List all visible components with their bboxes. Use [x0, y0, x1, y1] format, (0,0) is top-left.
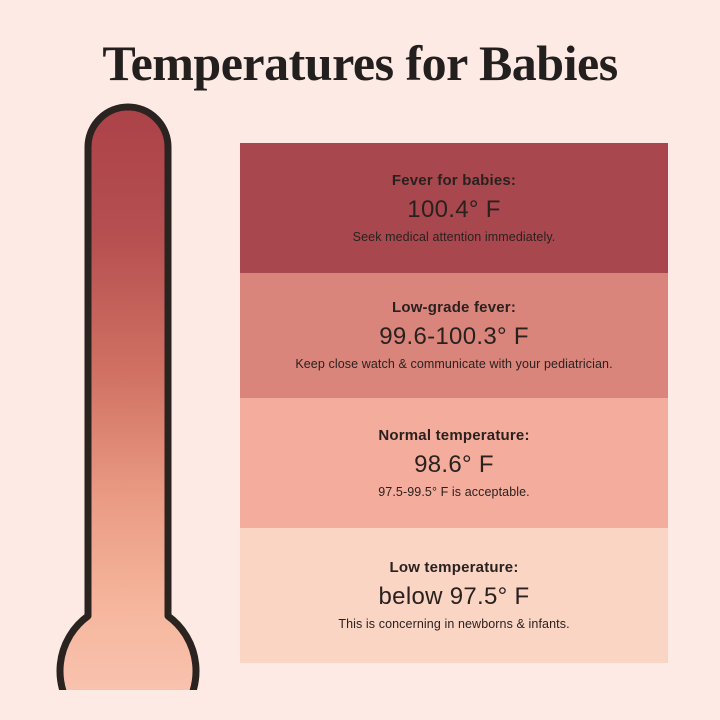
band-label: Low-grade fever:	[392, 298, 516, 317]
band-label: Fever for babies:	[392, 171, 516, 190]
temperature-band-low: Low temperature: below 97.5° F This is c…	[240, 528, 668, 663]
thermometer-svg	[42, 96, 222, 690]
page-title: Temperatures for Babies	[0, 34, 720, 92]
temperature-band-normal: Normal temperature: 98.6° F 97.5-99.5° F…	[240, 398, 668, 528]
thermometer-body	[60, 107, 196, 690]
band-value: 98.6° F	[414, 450, 494, 479]
band-value: 99.6-100.3° F	[379, 322, 529, 351]
band-value: below 97.5° F	[379, 582, 530, 611]
band-label: Normal temperature:	[378, 426, 529, 445]
infographic-canvas: Temperatures for Babies Fever for babies…	[0, 0, 720, 720]
band-label: Low temperature:	[389, 558, 518, 577]
band-note: Seek medical attention immediately.	[353, 229, 556, 246]
band-note: 97.5-99.5° F is acceptable.	[378, 484, 530, 501]
band-note: Keep close watch & communicate with your…	[295, 356, 612, 373]
band-note: This is concerning in newborns & infants…	[338, 616, 569, 633]
temperature-band-low-grade-fever: Low-grade fever: 99.6-100.3° F Keep clos…	[240, 273, 668, 398]
temperature-band-fever: Fever for babies: 100.4° F Seek medical …	[240, 143, 668, 273]
temperature-range-list: Fever for babies: 100.4° F Seek medical …	[240, 143, 668, 663]
thermometer-icon	[42, 96, 222, 690]
band-value: 100.4° F	[407, 195, 500, 224]
